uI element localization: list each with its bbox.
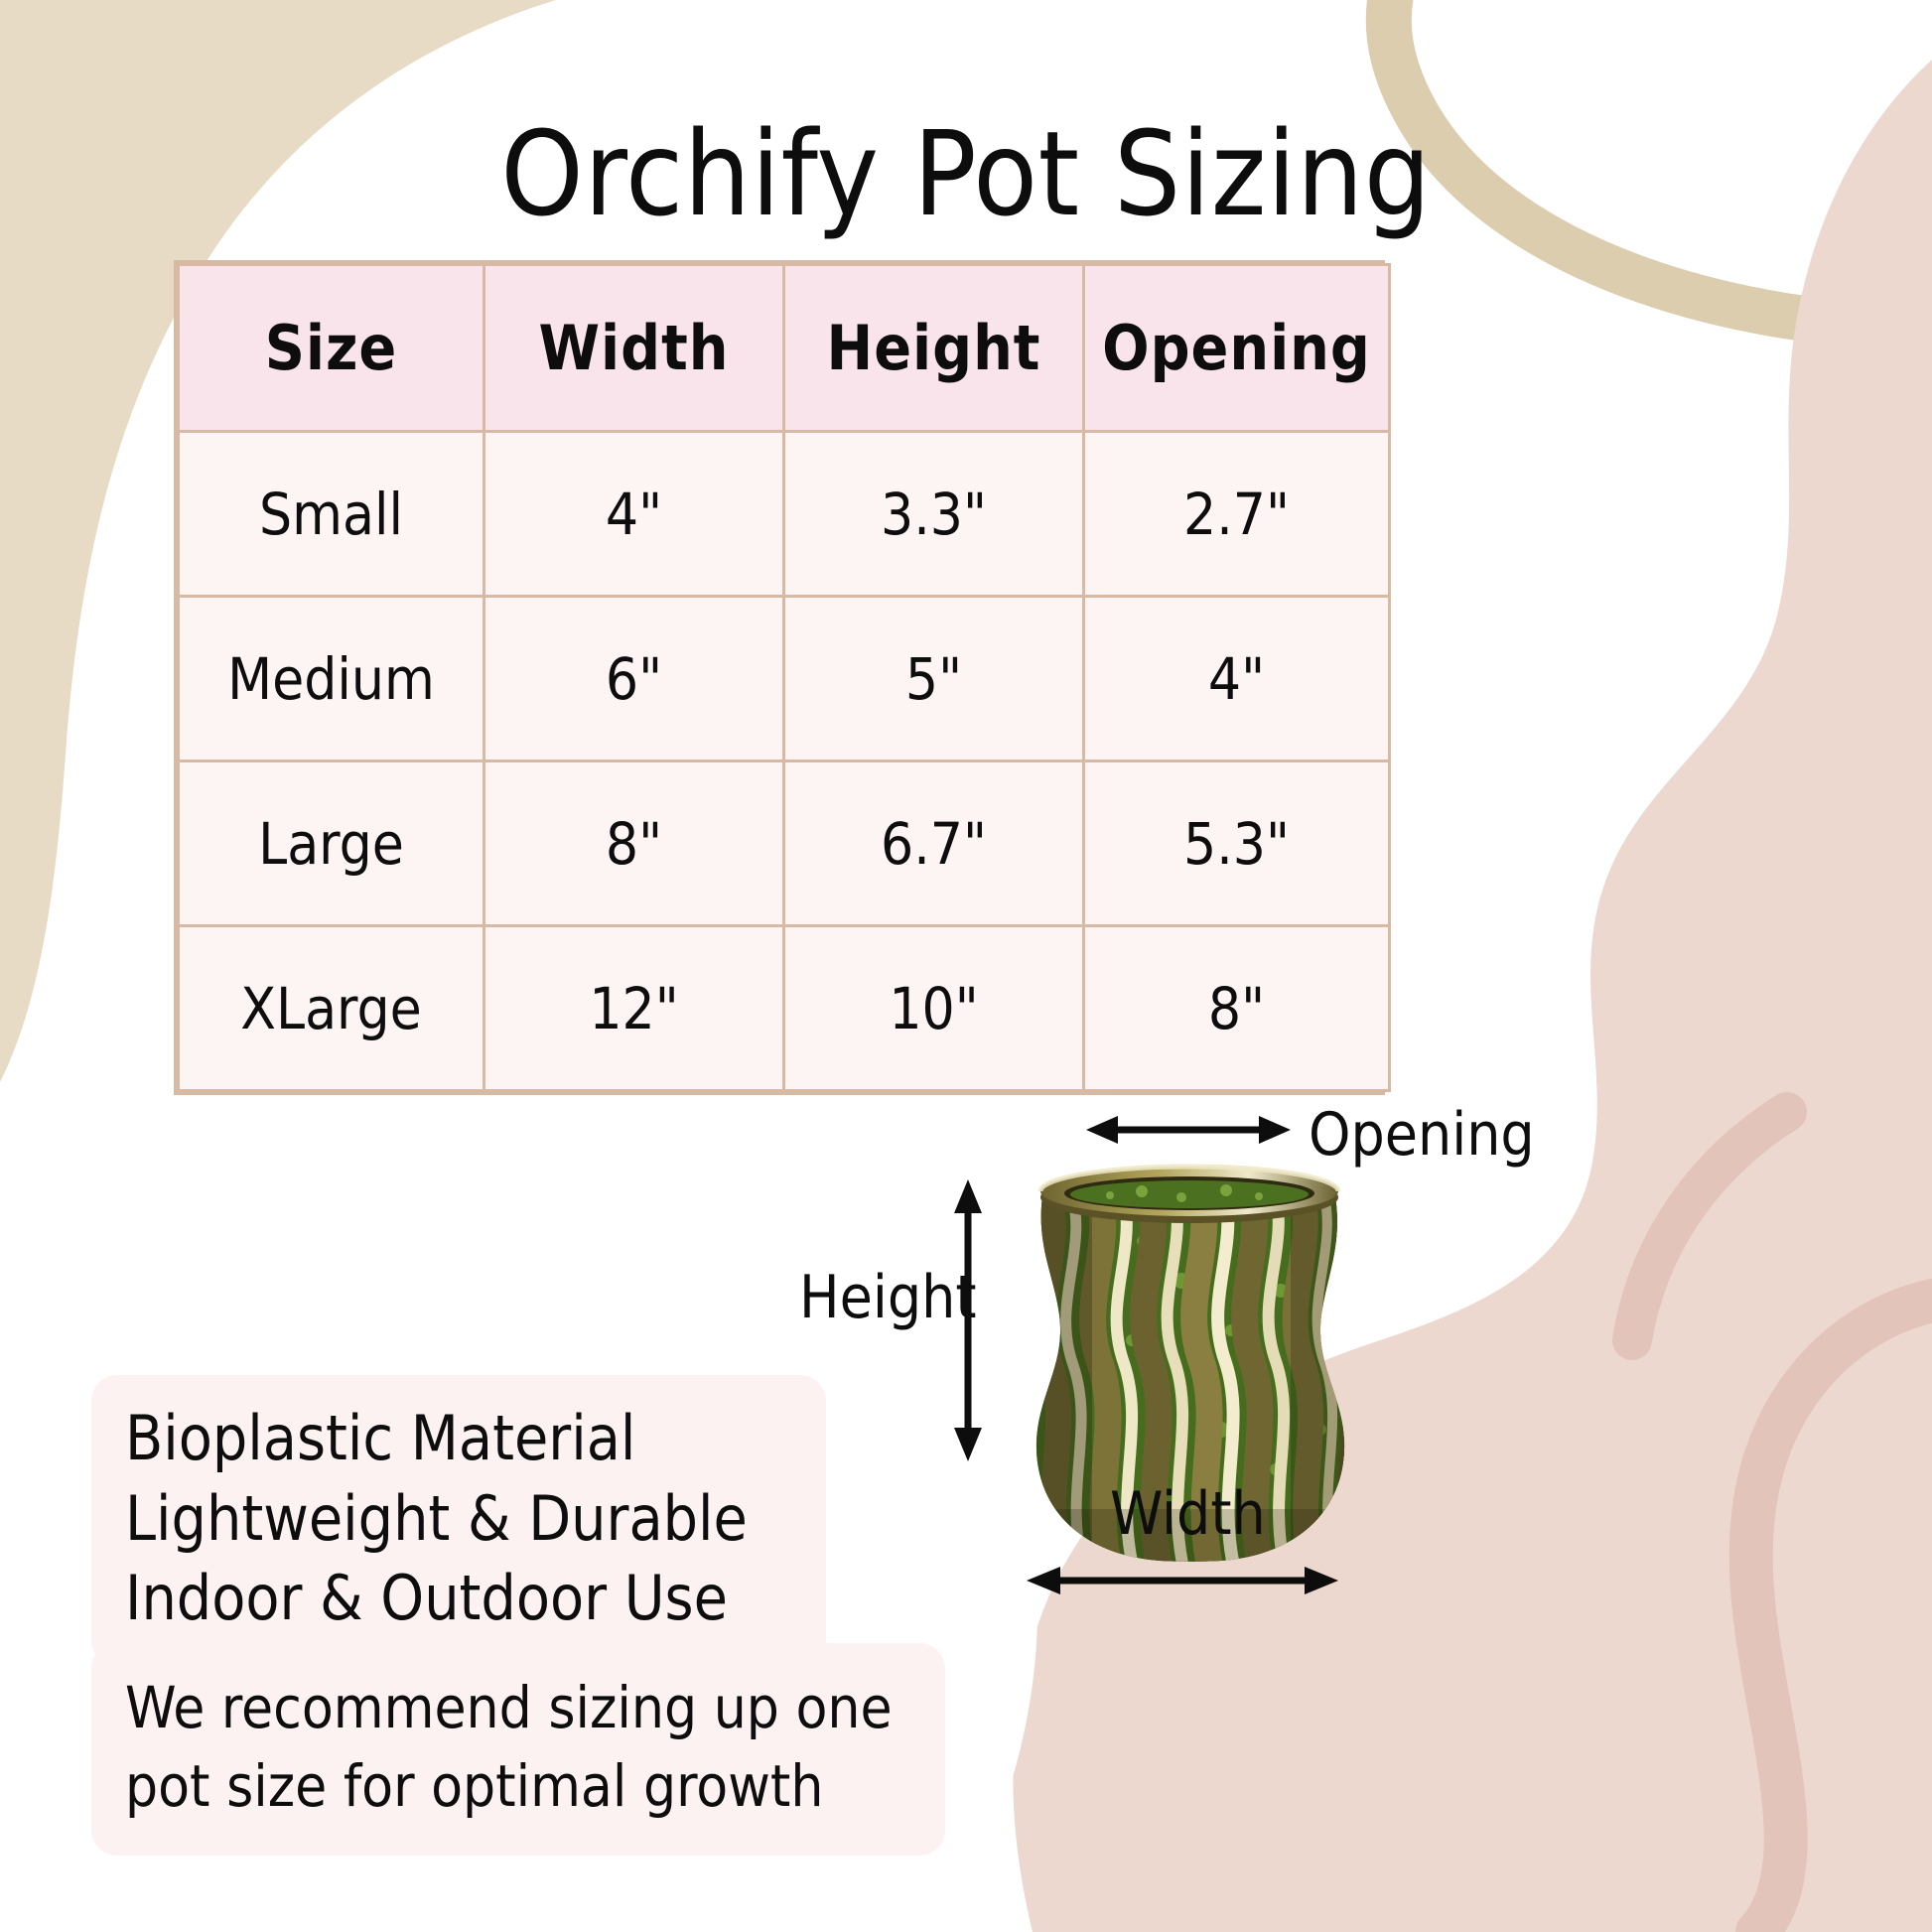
table-row: Medium 6" 5" 4"	[179, 597, 1390, 761]
cell-opening: 2.7"	[1084, 432, 1390, 597]
cell-size: XLarge	[179, 926, 484, 1091]
cell-width: 6"	[484, 597, 784, 761]
column-header-opening: Opening	[1084, 265, 1390, 432]
cell-height: 3.3"	[784, 432, 1084, 597]
recommendation-line: We recommend sizing up one	[125, 1669, 911, 1747]
height-dimension-label: Height	[799, 1263, 976, 1332]
cell-height: 6.7"	[784, 761, 1084, 926]
cell-width: 12"	[484, 926, 784, 1091]
feature-line: Indoor & Outdoor Use	[125, 1559, 792, 1639]
cell-width: 4"	[484, 432, 784, 597]
cell-opening: 4"	[1084, 597, 1390, 761]
cell-opening: 5.3"	[1084, 761, 1390, 926]
cell-width: 8"	[484, 761, 784, 926]
cell-opening: 8"	[1084, 926, 1390, 1091]
cell-size: Small	[179, 432, 484, 597]
cell-size: Large	[179, 761, 484, 926]
cell-height: 10"	[784, 926, 1084, 1091]
column-header-size: Size	[179, 265, 484, 432]
feature-line: Lightweight & Durable	[125, 1479, 792, 1560]
opening-dimension-label: Opening	[1309, 1100, 1535, 1170]
table-row: Small 4" 3.3" 2.7"	[179, 432, 1390, 597]
recommendation-line: pot size for optimal growth	[125, 1747, 911, 1826]
table-header-row: Size Width Height Opening	[179, 265, 1390, 432]
column-header-width: Width	[484, 265, 784, 432]
width-dimension-label: Width	[1110, 1479, 1266, 1549]
table-row: XLarge 12" 10" 8"	[179, 926, 1390, 1091]
sizing-table-container: Size Width Height Opening Small 4" 3.3" …	[174, 260, 1385, 1095]
column-header-height: Height	[784, 265, 1084, 432]
cell-size: Medium	[179, 597, 484, 761]
sizing-table: Size Width Height Opening Small 4" 3.3" …	[177, 263, 1391, 1092]
cell-height: 5"	[784, 597, 1084, 761]
features-panel: Bioplastic Material Lightweight & Durabl…	[91, 1375, 826, 1667]
page-title: Orchify Pot Sizing	[0, 115, 1932, 232]
recommendation-panel: We recommend sizing up one pot size for …	[91, 1643, 945, 1856]
feature-line: Bioplastic Material	[125, 1399, 792, 1479]
table-row: Large 8" 6.7" 5.3"	[179, 761, 1390, 926]
